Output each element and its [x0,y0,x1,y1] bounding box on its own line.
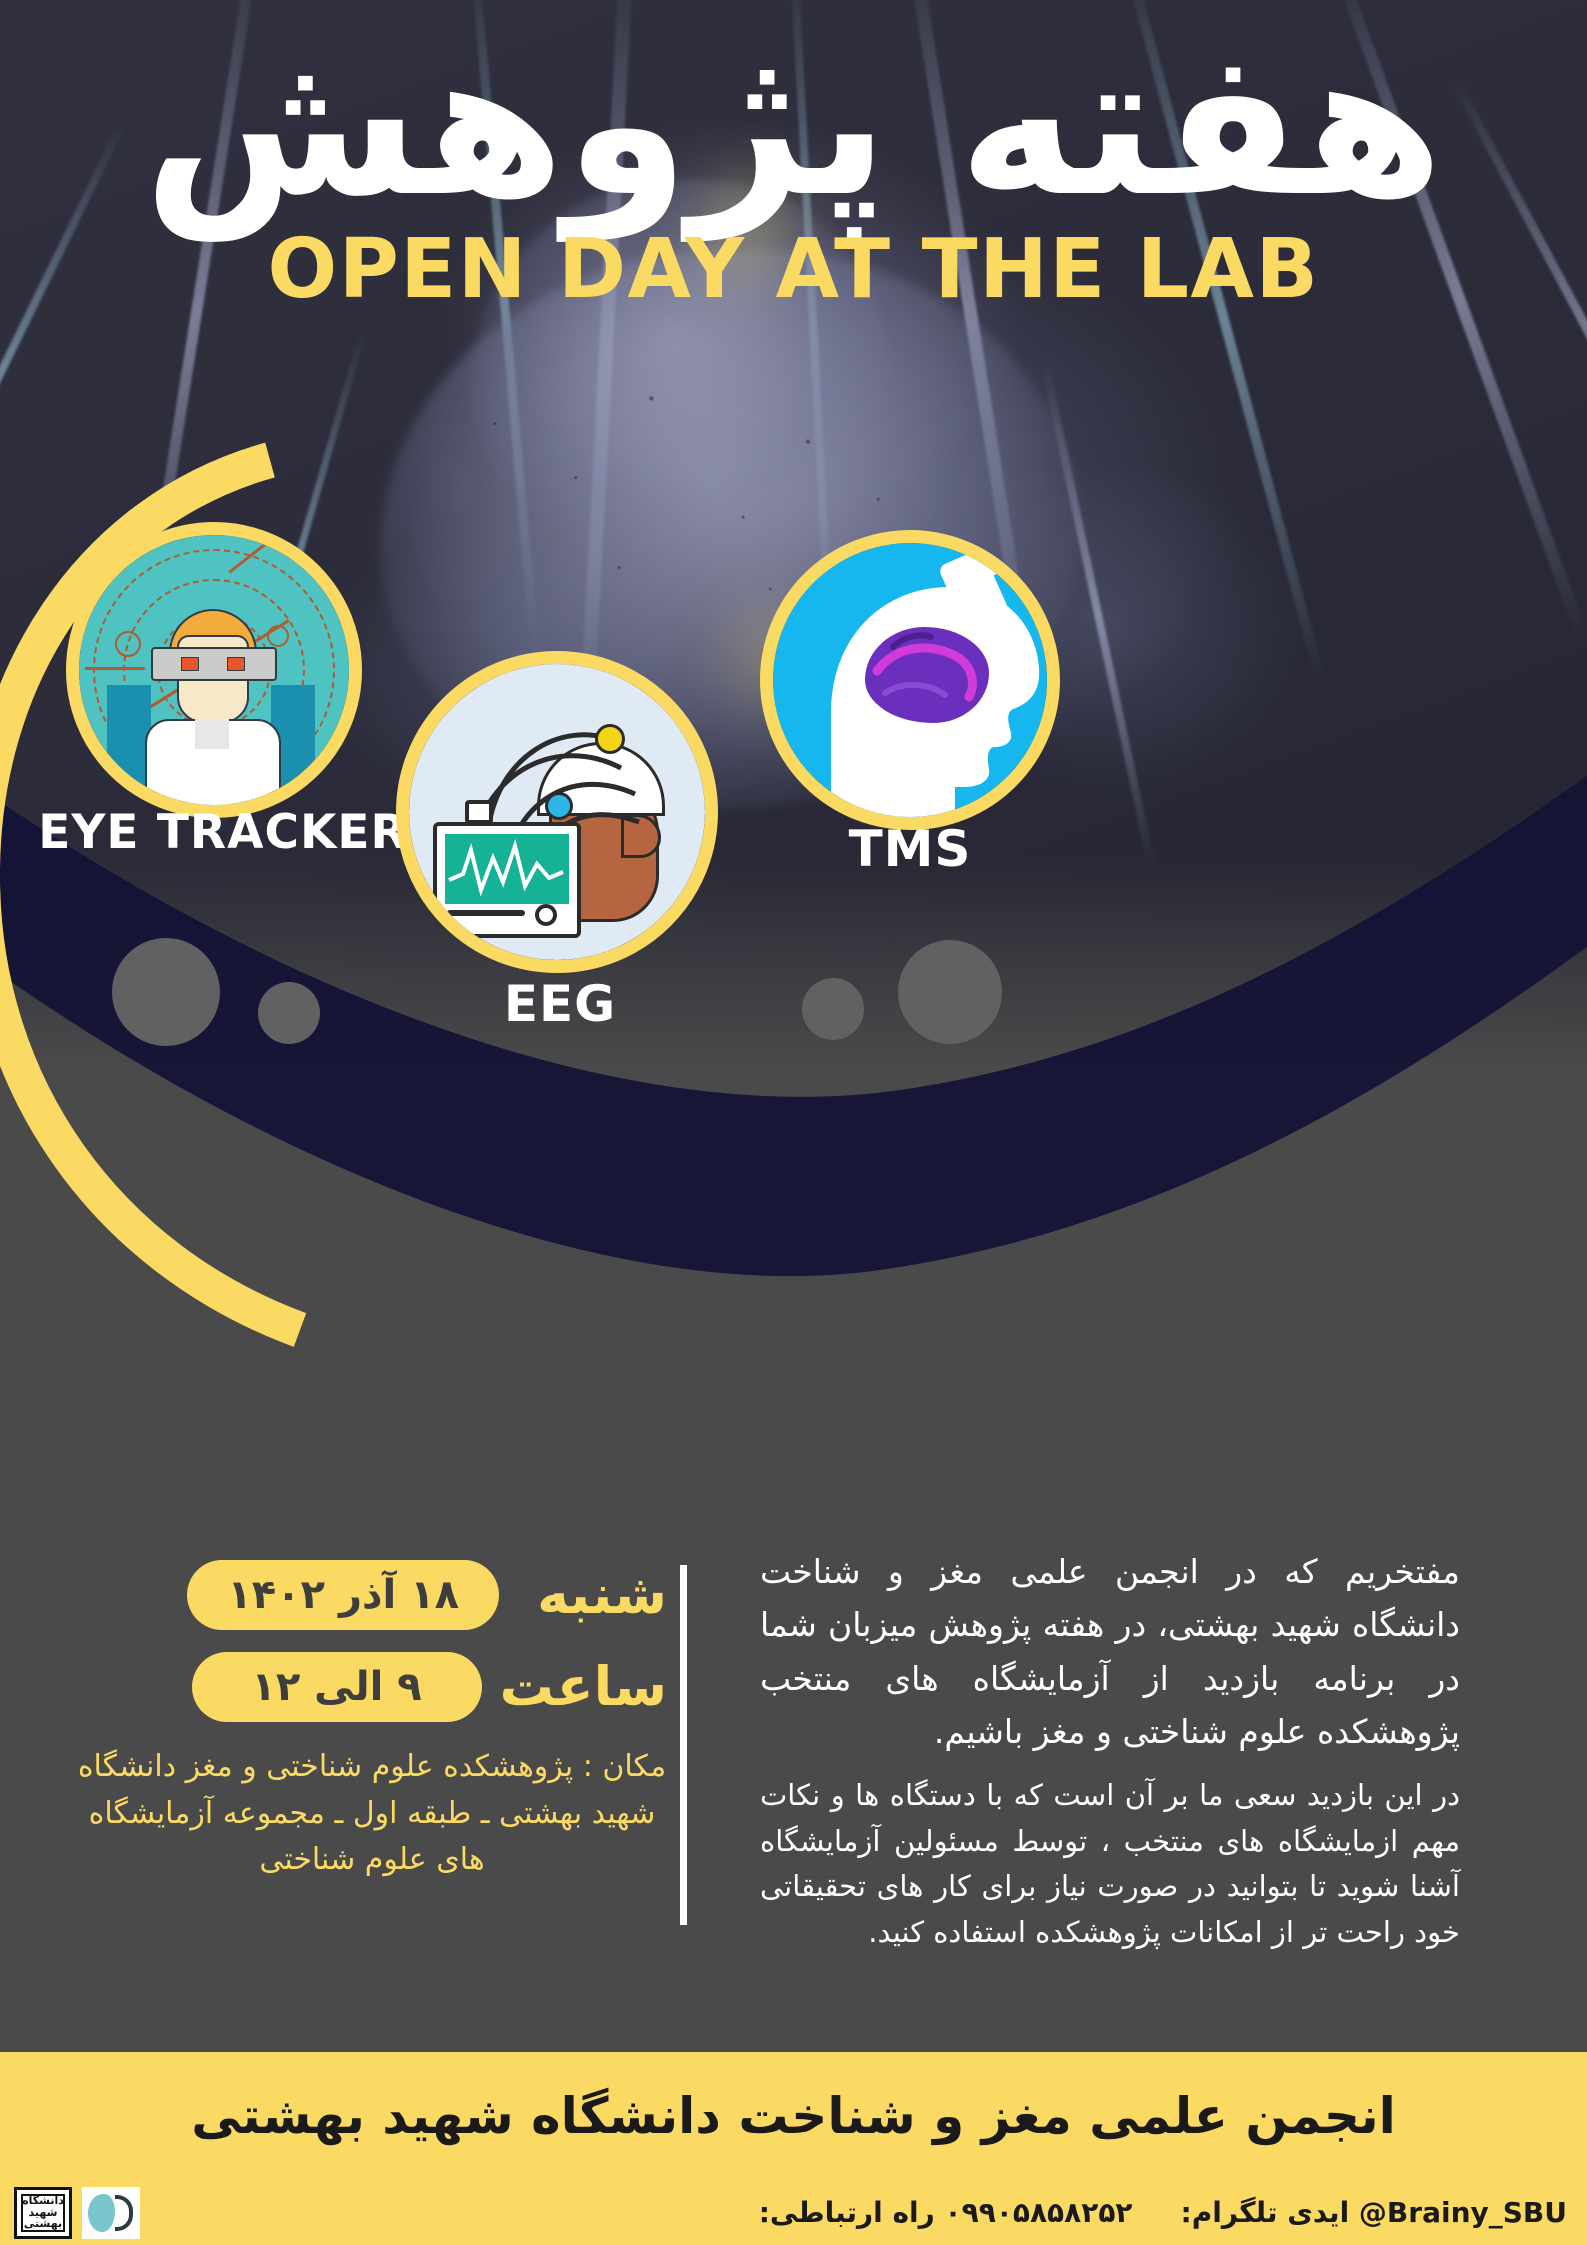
brain-hook-shape [115,2195,133,2231]
body-paragraph-2: در این بازدید سعی ما بر آن است که با دست… [760,1773,1460,1956]
eye-tracker-icon [79,535,349,805]
phone-group: ۰۹۹۰۵۸۵۸۲۵۲ راه ارتباطی: [759,2196,1133,2229]
brain-association-logo [82,2187,140,2239]
tms-coil-icon [773,543,1047,817]
contact-phone: ۰۹۹۰۵۸۵۸۲۵۲ [945,2196,1133,2229]
body-text-block: مفتخریم که در انجمن علمی مغز و شناخت دان… [760,1545,1460,1956]
telegram-handle[interactable]: @Brainy_SBU [1359,2196,1567,2229]
body-paragraph-1: مفتخریم که در انجمن علمی مغز و شناخت دان… [760,1545,1460,1759]
badge-label-tms: TMS [760,820,1060,878]
poster-root: EYE TRACKER [0,0,1587,2245]
badge-eeg[interactable] [396,651,718,973]
schedule-day-label: شنبه [517,1568,667,1622]
schedule-time-pill: ۹ الی ۱۲ [192,1652,482,1722]
vertical-divider [680,1565,687,1925]
decorative-dot [258,982,320,1044]
badge-eye-tracker[interactable] [66,522,362,818]
footer-organization-text: انجمن علمی مغز و شناخت دانشگاه شهید بهشت… [191,2087,1396,2145]
badge-label-eeg: EEG [415,975,705,1033]
university-logo-caption: دانشگاه شهید بهشتی [21,2194,65,2232]
schedule-venue: مکان : پژوهشکده علوم شناختی و مغز دانشگا… [47,1744,667,1884]
decorative-dot [898,940,1002,1044]
badge-tms[interactable] [760,530,1060,830]
eeg-cap-icon [409,664,705,960]
shahid-beheshti-university-logo: دانشگاه شهید بهشتی [14,2187,72,2239]
schedule-block: شنبه ۱۸ آذر ۱۴۰۲ ساعت ۹ الی ۱۲ مکان : پژ… [47,1560,667,1884]
footer-contact-bar: دانشگاه شهید بهشتی @Brainy_SBU ایدی تلگر… [0,2180,1587,2245]
telegram-group[interactable]: @Brainy_SBU ایدی تلگرام: [1181,2196,1567,2229]
badge-label-eye-tracker: EYE TRACKER [28,805,418,860]
schedule-date-row: شنبه ۱۸ آذر ۱۴۰۲ [47,1560,667,1630]
page-title: هفته پژوهش [0,20,1587,230]
page-subtitle: OPEN DAY AT THE LAB [0,222,1587,317]
schedule-date-pill: ۱۸ آذر ۱۴۰۲ [187,1560,499,1630]
decorative-dot [802,978,864,1040]
contact-label: راه ارتباطی: [759,2196,935,2229]
decorative-dot [112,938,220,1046]
contact-info: @Brainy_SBU ایدی تلگرام: ۰۹۹۰۵۸۵۸۲۵۲ راه… [759,2196,1567,2229]
schedule-time-label: ساعت [500,1660,667,1714]
brain-lobe-shape [88,2194,115,2232]
telegram-label: ایدی تلگرام: [1181,2196,1350,2229]
footer-organization-band: انجمن علمی مغز و شناخت دانشگاه شهید بهشت… [0,2052,1587,2180]
schedule-time-row: ساعت ۹ الی ۱۲ [47,1652,667,1722]
